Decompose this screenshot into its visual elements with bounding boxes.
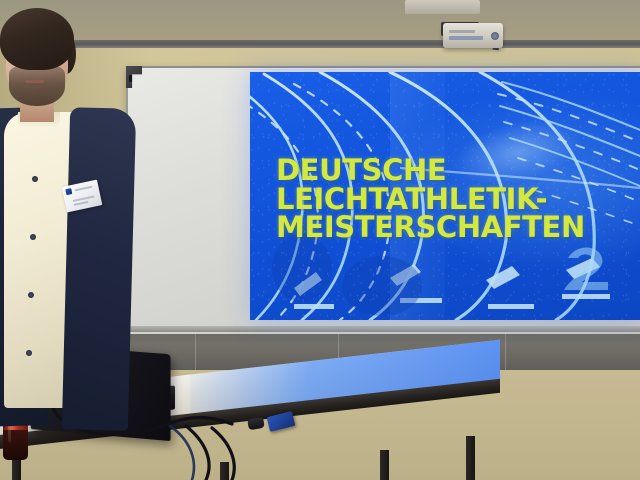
projector-vent <box>449 30 475 33</box>
jacket-button <box>28 292 34 298</box>
jacket-button <box>26 350 32 356</box>
table-leg <box>380 450 389 480</box>
whiteboard-tray <box>126 326 640 332</box>
projector-icon <box>443 23 503 48</box>
jacket-right-panel <box>62 107 136 431</box>
projector-vent <box>449 36 483 40</box>
presenter <box>0 8 142 438</box>
table-leg <box>466 436 475 480</box>
badge-logo-icon <box>65 188 72 195</box>
wainscot-seam <box>195 333 196 371</box>
ceiling-panel <box>405 0 480 14</box>
hair <box>0 8 74 70</box>
badge-text-line <box>73 201 88 206</box>
beard <box>9 66 65 106</box>
wainscot-seam <box>505 333 506 371</box>
badge-text-line <box>74 186 92 191</box>
projector-lens <box>491 32 499 40</box>
presentation-room-photo: DEUTSCHE LEICHTATHLETIK- MEISTERSCHAFTEN… <box>0 0 640 480</box>
mouth <box>25 80 44 83</box>
jacket-button <box>32 176 38 182</box>
slide-title: DEUTSCHE LEICHTATHLETIK- MEISTERSCHAFTEN <box>276 156 626 242</box>
jacket-button <box>30 234 36 240</box>
projected-slide: DEUTSCHE LEICHTATHLETIK- MEISTERSCHAFTEN <box>250 72 640 320</box>
